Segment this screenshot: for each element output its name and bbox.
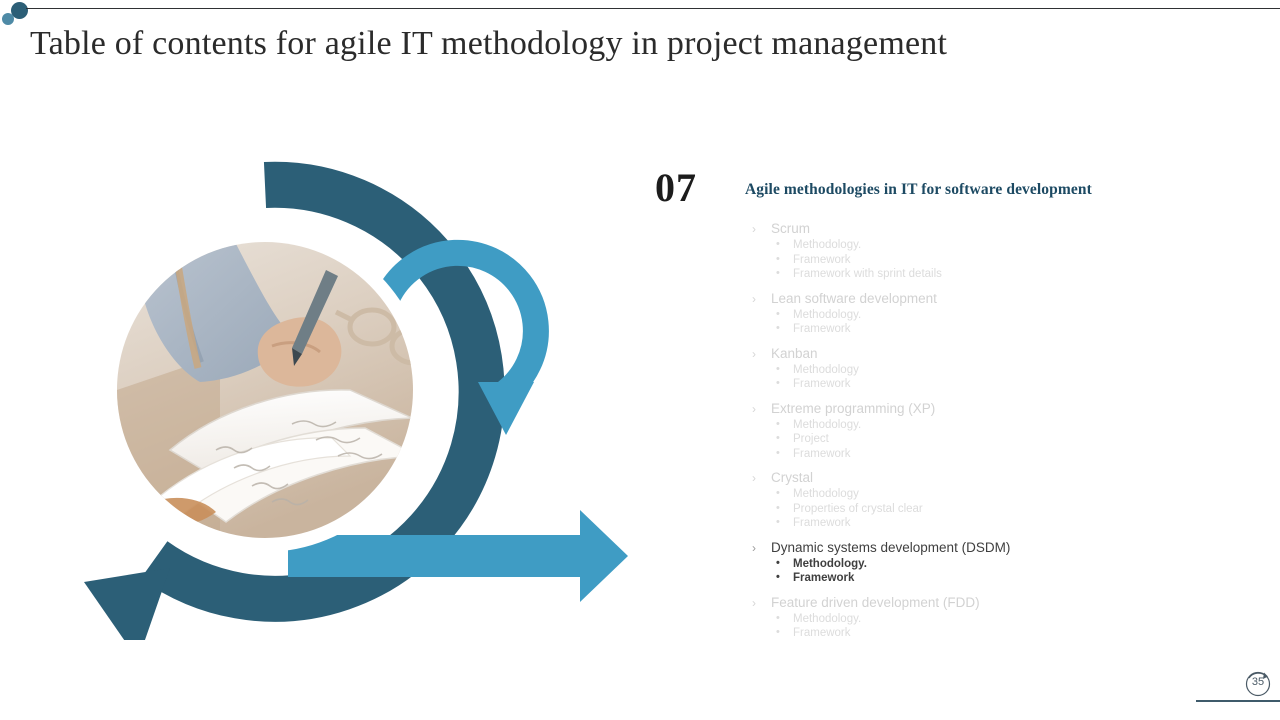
toc-item-label: Feature driven development (FDD)	[771, 595, 980, 610]
toc-subitem[interactable]: •Methodology.	[743, 418, 1243, 433]
bullet-icon: •	[776, 307, 780, 322]
bullet-icon: •	[776, 321, 780, 336]
toc-subitem-label: Framework with sprint details	[793, 268, 942, 280]
toc-subitem-label: Methodology.	[793, 613, 861, 625]
section-heading: Agile methodologies in IT for software d…	[745, 181, 1092, 199]
chevron-right-icon: ›	[752, 469, 756, 487]
bullet-icon: •	[776, 237, 780, 252]
toc-subitem[interactable]: •Methodology.	[743, 612, 1243, 627]
toc-item-feature-driven-development-fdd[interactable]: ›Feature driven development (FDD)	[743, 594, 1243, 612]
page-number: 35	[1243, 667, 1273, 697]
toc-item-dynamic-systems-development-dsdm[interactable]: ›Dynamic systems development (DSDM)	[743, 539, 1243, 557]
bullet-icon: •	[776, 556, 780, 571]
toc-subitem-label: Framework	[793, 254, 851, 266]
toc-subitem-label: Methodology.	[793, 558, 867, 570]
circle-icon-small	[2, 13, 14, 25]
toc-subitem-label: Framework	[793, 448, 851, 460]
toc-subitem-label: Framework	[793, 572, 854, 584]
toc-subitem[interactable]: •Framework	[743, 447, 1243, 462]
toc-item-label: Scrum	[771, 221, 810, 236]
toc-subitem-label: Framework	[793, 627, 851, 639]
toc-subitem[interactable]: •Framework	[743, 626, 1243, 641]
toc-subitem[interactable]: •Methodology.	[743, 557, 1243, 572]
chevron-right-icon: ›	[752, 539, 756, 557]
bullet-icon: •	[776, 611, 780, 626]
toc-subitem[interactable]: •Framework	[743, 377, 1243, 392]
toc-item-label: Crystal	[771, 470, 813, 485]
toc-subitem-label: Framework	[793, 517, 851, 529]
toc-group: ›Lean software development•Methodology.•…	[743, 290, 1243, 337]
bullet-icon: •	[776, 501, 780, 516]
section-number: 07	[655, 168, 697, 208]
bullet-icon: •	[776, 266, 780, 281]
toc-item-label: Extreme programming (XP)	[771, 401, 935, 416]
toc-subitem-label: Project	[793, 433, 829, 445]
bullet-icon: •	[776, 570, 780, 585]
toc-item-crystal[interactable]: ›Crystal	[743, 469, 1243, 487]
chevron-right-icon: ›	[752, 220, 756, 238]
bullet-icon: •	[776, 362, 780, 377]
toc-subitem[interactable]: •Methodology	[743, 363, 1243, 378]
toc-subitem-label: Framework	[793, 323, 851, 335]
toc-subitem-label: Methodology	[793, 488, 859, 500]
toc-group: ›Extreme programming (XP)•Methodology.•P…	[743, 400, 1243, 462]
toc-subitem-label: Methodology.	[793, 419, 861, 431]
bullet-icon: •	[776, 625, 780, 640]
bullet-icon: •	[776, 376, 780, 391]
chevron-right-icon: ›	[752, 400, 756, 418]
bullet-icon: •	[776, 252, 780, 267]
toc-list: ›Scrum•Methodology.•Framework•Framework …	[743, 220, 1243, 649]
toc-subitem[interactable]: •Project	[743, 432, 1243, 447]
toc-subitem-label: Properties of crystal clear	[793, 503, 923, 515]
chevron-right-icon: ›	[752, 290, 756, 308]
page-title: Table of contents for agile IT methodolo…	[30, 22, 1210, 66]
toc-group: ›Feature driven development (FDD)•Method…	[743, 594, 1243, 641]
bullet-icon: •	[776, 486, 780, 501]
toc-item-label: Lean software development	[771, 291, 937, 306]
toc-item-label: Dynamic systems development (DSDM)	[771, 540, 1010, 555]
toc-item-label: Kanban	[771, 346, 818, 361]
toc-subitem[interactable]: •Framework	[743, 571, 1243, 586]
toc-item-scrum[interactable]: ›Scrum	[743, 220, 1243, 238]
chevron-right-icon: ›	[752, 345, 756, 363]
toc-subitem-label: Methodology	[793, 364, 859, 376]
bullet-icon: •	[776, 515, 780, 530]
toc-subitem[interactable]: •Framework	[743, 322, 1243, 337]
toc-subitem[interactable]: •Methodology.	[743, 238, 1243, 253]
toc-item-lean-software-development[interactable]: ›Lean software development	[743, 290, 1243, 308]
toc-subitem[interactable]: •Framework	[743, 253, 1243, 268]
toc-subitem[interactable]: •Methodology.	[743, 308, 1243, 323]
slide-root: Table of contents for agile IT methodolo…	[0, 0, 1280, 720]
toc-group: ›Dynamic systems development (DSDM)•Meth…	[743, 539, 1243, 586]
header-divider	[26, 8, 1280, 9]
toc-subitem[interactable]: •Properties of crystal clear	[743, 502, 1243, 517]
bullet-icon: •	[776, 431, 780, 446]
chevron-right-icon: ›	[752, 594, 756, 612]
toc-group: ›Crystal•Methodology•Properties of cryst…	[743, 469, 1243, 531]
page-number-badge: 35	[1243, 667, 1279, 703]
bullet-icon: •	[776, 417, 780, 432]
badge-underline	[1196, 700, 1280, 702]
toc-subitem[interactable]: •Methodology	[743, 487, 1243, 502]
toc-item-kanban[interactable]: ›Kanban	[743, 345, 1243, 363]
bullet-icon: •	[776, 446, 780, 461]
toc-group: ›Kanban•Methodology•Framework	[743, 345, 1243, 392]
toc-subitem[interactable]: •Framework	[743, 516, 1243, 531]
toc-item-extreme-programming-xp[interactable]: ›Extreme programming (XP)	[743, 400, 1243, 418]
toc-subitem-label: Framework	[793, 378, 851, 390]
agile-cycle-graphic	[20, 150, 650, 640]
toc-subitem[interactable]: •Framework with sprint details	[743, 267, 1243, 282]
toc-subitem-label: Methodology.	[793, 239, 861, 251]
toc-group: ›Scrum•Methodology.•Framework•Framework …	[743, 220, 1243, 282]
toc-subitem-label: Methodology.	[793, 309, 861, 321]
